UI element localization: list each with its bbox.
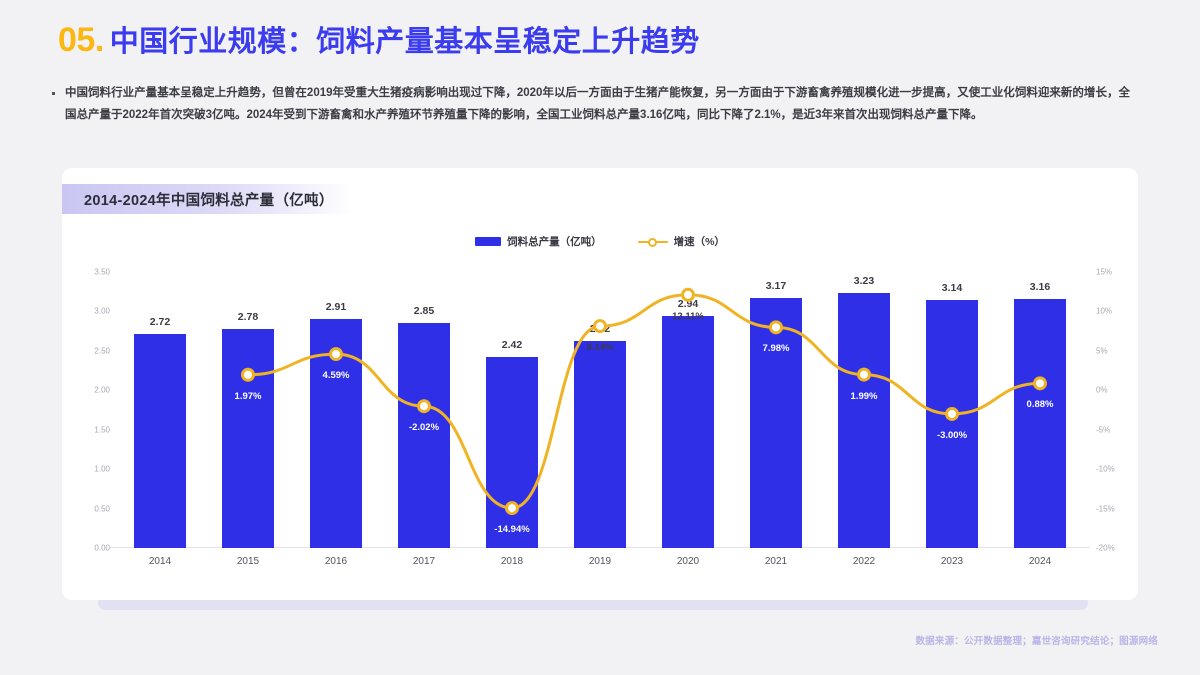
legend-item-line[interactable]: 增速（%）: [638, 234, 725, 249]
legend-line-swatch-icon: [638, 237, 668, 247]
y-axis-left-tick: 2.00: [68, 386, 114, 395]
x-axis-tick: 2014: [116, 556, 204, 567]
bar-slot: 2.914.59%: [292, 272, 380, 548]
growth-value-label: 1.97%: [204, 391, 292, 402]
bar-slot: 2.781.97%: [204, 272, 292, 548]
bar[interactable]: [486, 357, 538, 548]
bar-value-label: 2.62: [556, 323, 644, 335]
bar-slot: 3.14-3.00%: [908, 272, 996, 548]
x-axis-tick: 2020: [644, 556, 732, 567]
y-axis-left-tick: 3.00: [68, 307, 114, 316]
body-paragraph-text: 中国饲料行业产量基本呈稳定上升趋势，但曾在2019年受重大生猪疫病影响出现过下降…: [65, 82, 1130, 126]
bar[interactable]: [926, 300, 978, 548]
growth-value-label: 12.11%: [644, 311, 732, 322]
growth-value-label: 7.98%: [732, 343, 820, 354]
y-axis-right-tick: -15%: [1090, 504, 1136, 513]
bar-value-label: 3.17: [732, 280, 820, 292]
x-axis-tick: 2023: [908, 556, 996, 567]
x-axis-tick: 2024: [996, 556, 1084, 567]
y-axis-right-tick: -5%: [1090, 425, 1136, 434]
bar-value-label: 2.72: [116, 316, 204, 328]
growth-value-label: -2.02%: [380, 422, 468, 433]
growth-value-label: -3.00%: [908, 430, 996, 441]
bar-slot: 3.231.99%: [820, 272, 908, 548]
y-axis-right-tick: 15%: [1090, 268, 1136, 277]
y-axis-right-tick: 0%: [1090, 386, 1136, 395]
chart-title: 2014-2024年中国饲料总产量（亿吨）: [62, 184, 354, 214]
y-axis-left-tick: 1.00: [68, 465, 114, 474]
y-axis-right-tick: 10%: [1090, 307, 1136, 316]
growth-value-label: -14.94%: [468, 524, 556, 535]
page-title-number: 05.: [58, 21, 104, 60]
bar[interactable]: [222, 329, 274, 548]
y-axis-left-tick: 0.50: [68, 504, 114, 513]
growth-value-label: 8.14%: [556, 342, 644, 353]
bar-value-label: 3.16: [996, 281, 1084, 293]
bullet-dot-icon: [52, 92, 55, 95]
bar[interactable]: [398, 323, 450, 548]
bar-slot: 3.177.98%: [732, 272, 820, 548]
bar[interactable]: [662, 316, 714, 548]
y-axis-left-tick: 3.50: [68, 268, 114, 277]
y-axis-left: 0.000.501.001.502.002.503.003.50: [68, 272, 114, 548]
growth-value-label: 0.88%: [996, 399, 1084, 410]
y-axis-right-tick: -20%: [1090, 544, 1136, 553]
bar[interactable]: [310, 319, 362, 548]
bar-slot: 2.72: [116, 272, 204, 548]
bar[interactable]: [838, 293, 890, 548]
bar-value-label: 2.78: [204, 311, 292, 323]
body-paragraph-block: 中国饲料行业产量基本呈稳定上升趋势，但曾在2019年受重大生猪疫病影响出现过下降…: [52, 82, 1142, 126]
x-axis-tick: 2016: [292, 556, 380, 567]
legend-bar-swatch-icon: [475, 237, 501, 246]
y-axis-right-tick: -10%: [1090, 465, 1136, 474]
legend-item-bar[interactable]: 饲料总产量（亿吨）: [475, 234, 602, 249]
bar[interactable]: [574, 341, 626, 548]
bar-series: 2.722.781.97%2.914.59%2.85-2.02%2.42-14.…: [116, 272, 1084, 548]
x-axis-tick: 2021: [732, 556, 820, 567]
y-axis-left-tick: 0.00: [68, 544, 114, 553]
bar-value-label: 2.42: [468, 339, 556, 351]
y-axis-right-tick: 5%: [1090, 346, 1136, 355]
chart-plot-area: 0.000.501.001.502.002.503.003.50 -20%-15…: [116, 272, 1084, 548]
legend-label-line: 增速（%）: [674, 234, 725, 249]
bar-value-label: 3.14: [908, 282, 996, 294]
slide-root: 05. 中国行业规模：饲料产量基本呈稳定上升趋势 中国饲料行业产量基本呈稳定上升…: [0, 0, 1200, 675]
growth-value-label: 1.99%: [820, 391, 908, 402]
y-axis-right: -20%-15%-10%-5%0%5%10%15%: [1090, 272, 1136, 548]
x-axis-tick: 2017: [380, 556, 468, 567]
bar-value-label: 2.94: [644, 298, 732, 310]
legend-label-bar: 饲料总产量（亿吨）: [507, 234, 602, 249]
source-note: 数据来源：公开数据整理；嘉世咨询研究结论；图源网络: [915, 633, 1158, 647]
bar-slot: 2.42-14.94%: [468, 272, 556, 548]
y-axis-left-tick: 1.50: [68, 425, 114, 434]
x-axis-tick: 2019: [556, 556, 644, 567]
page-title-text: 中国行业规模：饲料产量基本呈稳定上升趋势: [110, 18, 700, 60]
growth-value-label: 4.59%: [292, 370, 380, 381]
bar-value-label: 2.91: [292, 301, 380, 313]
bar-value-label: 2.85: [380, 305, 468, 317]
chart-card: 2014-2024年中国饲料总产量（亿吨） 饲料总产量（亿吨） 增速（%） 0.…: [62, 168, 1138, 600]
bar[interactable]: [134, 334, 186, 548]
x-axis-tick: 2015: [204, 556, 292, 567]
bar-slot: 2.9412.11%: [644, 272, 732, 548]
bar-slot: 3.160.88%: [996, 272, 1084, 548]
x-axis-tick: 2018: [468, 556, 556, 567]
x-axis-labels: 2014201520162017201820192020202120222023…: [116, 556, 1084, 567]
x-axis-tick: 2022: [820, 556, 908, 567]
bar[interactable]: [1014, 299, 1066, 548]
y-axis-left-tick: 2.50: [68, 346, 114, 355]
bar-slot: 2.85-2.02%: [380, 272, 468, 548]
page-title: 05. 中国行业规模：饲料产量基本呈稳定上升趋势: [58, 18, 700, 60]
bar-value-label: 3.23: [820, 275, 908, 287]
bar[interactable]: [750, 298, 802, 548]
bar-slot: 2.628.14%: [556, 272, 644, 548]
chart-legend: 饲料总产量（亿吨） 增速（%）: [62, 234, 1138, 249]
